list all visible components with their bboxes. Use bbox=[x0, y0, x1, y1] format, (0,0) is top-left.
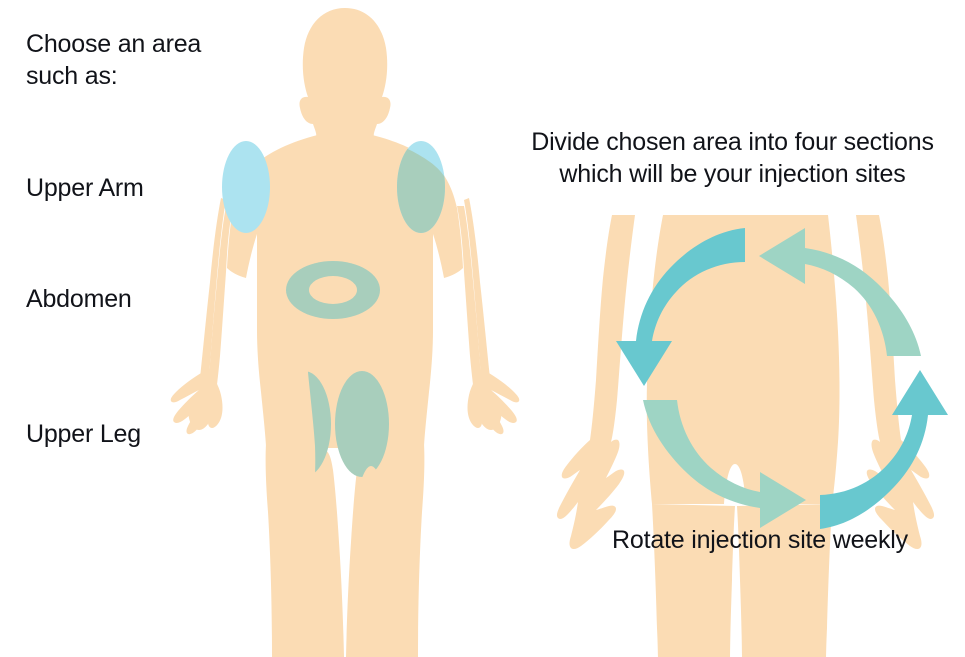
marker-abdomen-ring bbox=[286, 261, 380, 319]
site-label-abdomen: Abdomen bbox=[26, 283, 132, 315]
head-and-neck bbox=[299, 8, 390, 137]
abdomen-ring-inner bbox=[309, 276, 357, 304]
choose-area-intro-text: Choose an area such as: bbox=[26, 28, 201, 92]
divide-area-heading: Divide chosen area into four sections wh… bbox=[500, 126, 965, 190]
right-leg bbox=[346, 450, 422, 657]
left-leg bbox=[268, 450, 344, 657]
rotate-weekly-caption: Rotate injection site weekly bbox=[560, 524, 960, 556]
site-label-upper-arm: Upper Arm bbox=[26, 172, 144, 204]
marker-upper-leg-right bbox=[335, 371, 389, 477]
injection-site-infographic bbox=[0, 0, 965, 657]
marker-upper-arm-left bbox=[222, 141, 270, 233]
site-label-upper-leg: Upper Leg bbox=[26, 418, 141, 450]
